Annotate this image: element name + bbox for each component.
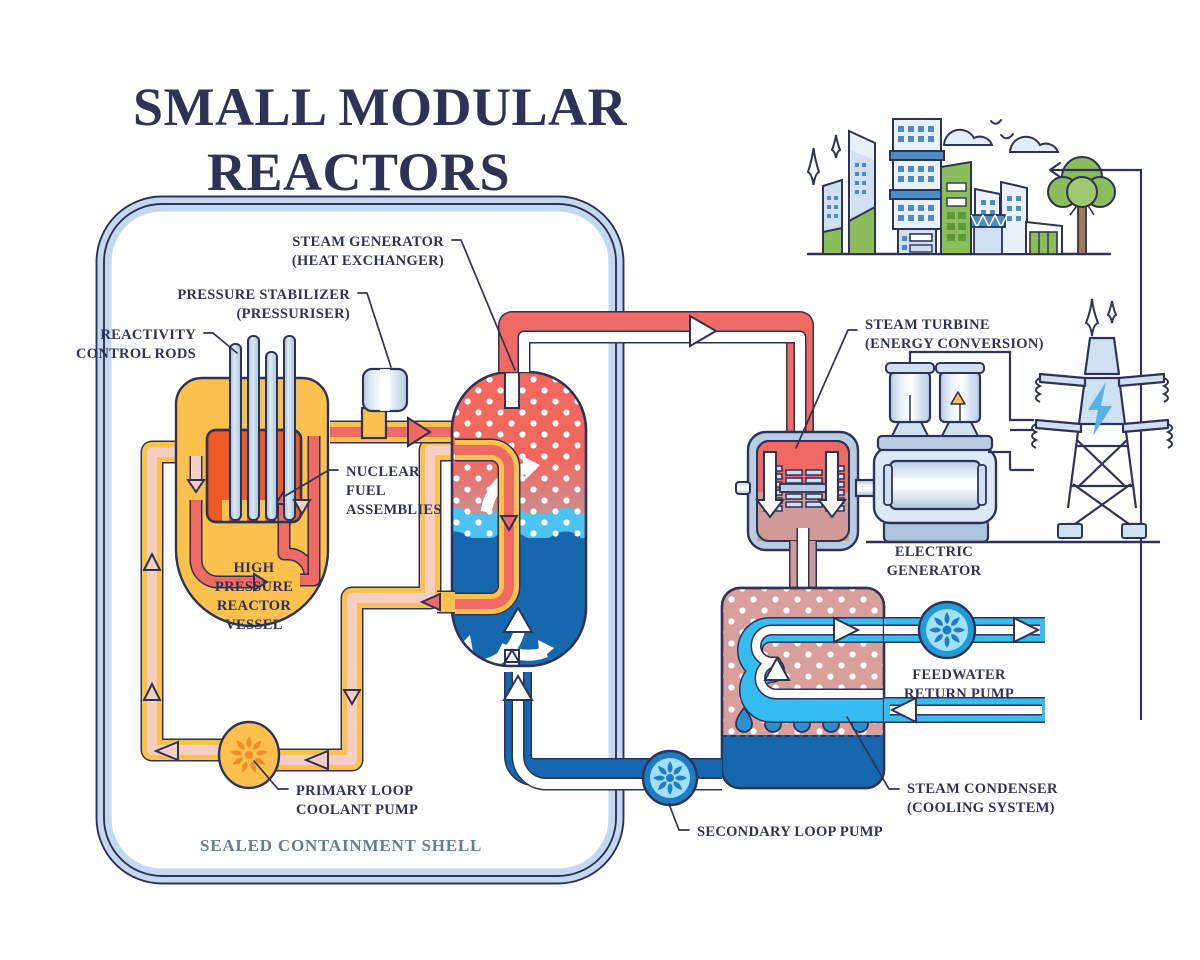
- reactor-vessel-label-4: VESSEL: [225, 617, 282, 633]
- control-rods-label-2: CONTROL RODS: [76, 346, 196, 362]
- steam-turbine-label-1: STEAM TURBINE: [865, 317, 990, 333]
- cityscape-icon: [808, 119, 1115, 254]
- control-rods-label-1: REACTIVITY: [100, 327, 196, 343]
- pressure-stabilizer-label-1: PRESSURE STABILIZER: [177, 287, 350, 303]
- page-title-line1: SMALL MODULAR: [133, 77, 628, 137]
- feedwater-pump-label-1: FEEDWATER: [912, 667, 1006, 683]
- electric-generator-label-1: ELECTRIC: [895, 544, 973, 560]
- smr-diagram: SMALL MODULAR REACTORS: [0, 0, 1200, 960]
- bird-icon: [991, 120, 1013, 138]
- steam-generator-label-2: (HEAT EXCHANGER): [292, 253, 444, 269]
- nuclear-fuel-label-2: FUEL: [346, 483, 386, 499]
- secondary-pump-label: SECONDARY LOOP PUMP: [697, 824, 883, 840]
- primary-pump-label-1: PRIMARY LOOP: [296, 783, 413, 799]
- containment-shell-label: SEALED CONTAINMENT SHELL: [200, 836, 482, 855]
- impeller-icon: [929, 612, 965, 648]
- secondary-loop-pump[interactable]: [643, 751, 697, 805]
- electric-generator-label-2: GENERATOR: [887, 563, 982, 579]
- cloud-icon: [944, 130, 1058, 152]
- steam-condenser-label-2: (COOLING SYSTEM): [907, 800, 1055, 816]
- feedwater-return-pump[interactable]: [919, 602, 975, 658]
- diagram-canvas: SMALL MODULAR REACTORS: [0, 0, 1200, 960]
- steam-condenser-label-1: STEAM CONDENSER: [907, 781, 1058, 797]
- pressure-stabilizer-label-2: (PRESSURISER): [237, 306, 350, 322]
- primary-pump-label-2: COOLANT PUMP: [296, 802, 418, 818]
- steam-turbine-label-2: (ENERGY CONVERSION): [865, 336, 1044, 352]
- reactor-vessel-label-3: REACTOR: [217, 598, 292, 614]
- sparkle-icon: [1086, 299, 1116, 336]
- nuclear-fuel-label-1: NUCLEAR: [346, 464, 420, 480]
- feedwater-pump-label-2: RETURN PUMP: [904, 686, 1014, 702]
- steam-generator-label-1: STEAM GENERATOR: [292, 234, 444, 250]
- transmission-tower-icon: [1032, 299, 1172, 538]
- steam-generator: [422, 360, 600, 690]
- page-title-line2: REACTORS: [207, 142, 510, 202]
- sparkle-icon: [808, 135, 840, 185]
- reactor-vessel-label-1: HIGH: [234, 560, 275, 576]
- impeller-icon: [653, 761, 687, 795]
- nuclear-fuel-label-3: ASSEMBLIES: [346, 502, 442, 518]
- primary-loop-coolant-pump[interactable]: [219, 722, 279, 788]
- reactor-vessel-label-2: PRESSURE: [215, 579, 293, 595]
